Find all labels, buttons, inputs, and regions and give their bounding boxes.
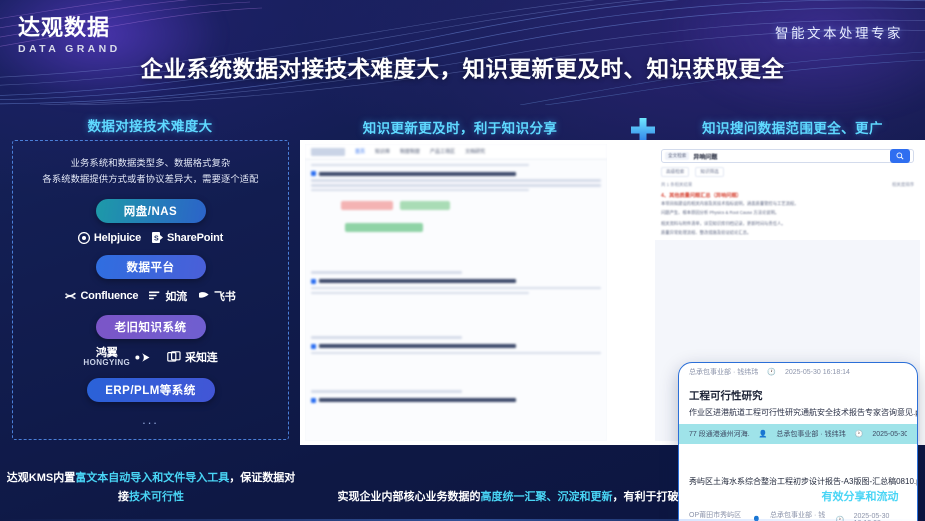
doc-line (311, 179, 601, 181)
strip-row: 77 段通港通州河海. 👤 总承包事业部 · 钱纬玮 🕐 2025-05-30 … (689, 429, 907, 439)
overlay-heading: 工程可行性研究 (679, 381, 917, 405)
doc-line (311, 184, 601, 186)
strip-author: 总承包事业部 · 钱纬玮 (776, 429, 845, 439)
strip-time: 2025-05-30 16:18:11 (872, 431, 907, 438)
caption-right-seg-2: ，有利于打破信息孤岛，实现高价值知识的 (613, 491, 822, 503)
doc-bullet-icon (311, 171, 316, 176)
search-filters[interactable]: 高级检索 知识筛选 (661, 167, 914, 177)
filter-chip-1[interactable]: 知识筛选 (695, 167, 723, 177)
desc-line-1: 业务系统和数据类型多、数据格式复杂 (13, 155, 288, 171)
overlay-author: 总承包事业部 · 钱纬玮 (689, 367, 758, 377)
brand-row-hongying-caizhilian: 鸿翼 HONGYING 采知连 (13, 348, 288, 367)
caption-left-seg-1: 富文本自动导入和文件导入工具 (75, 472, 229, 484)
pill-netdisk-nas[interactable]: 网盘/NAS (96, 199, 206, 223)
clock-icon: 🕐 (855, 430, 864, 438)
person-icon: 👤 (759, 430, 768, 438)
sort-dropdown[interactable]: 相关度排序 (892, 182, 914, 188)
document-list-body (305, 160, 607, 441)
overlay-meta-row: 总承包事业部 · 钱纬玮 🕐 2025-05-30 16:18:14 (679, 363, 917, 381)
pill-erp-plm-systems[interactable]: ERP/PLM等系统 (87, 378, 215, 402)
nav-item-3[interactable]: 产品工场区 (430, 148, 455, 155)
ruliu-icon (149, 290, 161, 301)
filter-chip-0[interactable]: 高级检索 (661, 167, 689, 177)
doc-entry-header (311, 398, 601, 403)
panel-description: 业务系统和数据类型多、数据格式复杂 各系统数据提供方式或者协议差异大，需要逐个适… (13, 155, 288, 188)
brand-caizhilian: 采知连 (167, 349, 217, 365)
clock-icon: 🕐 (767, 368, 776, 376)
doc-line (311, 287, 601, 289)
app-logo-icon (311, 148, 345, 156)
search-scope-select[interactable]: 全文检索 (665, 152, 689, 160)
brand-ruliu: 如流 (149, 288, 187, 304)
overlay-doc-title[interactable]: 作业区进港航道工程可行性研究通航安全技术报告专家咨询意见.pdf 南通港通州 (679, 405, 917, 422)
doc-line (311, 271, 462, 273)
nav-item-4[interactable]: 文档研究 (465, 148, 485, 155)
brand-confluence: Confluence (65, 290, 138, 302)
nav-item-0[interactable]: 首页 (355, 148, 365, 155)
brand-hongying: 鸿翼 HONGYING (83, 348, 156, 367)
section-header-left: 数据对接技术难度大 (0, 115, 300, 135)
knowledge-base-screenshot[interactable]: 首页 知识库 制度制度 产品工场区 文档研究 (305, 144, 607, 441)
result-snippet: 质量异常处理流程、整改措施及验证结论汇总。 (661, 230, 914, 237)
helpjuice-icon (78, 232, 90, 244)
caption-right-seg-1: 高度统一汇聚、沉淀和更新 (481, 491, 613, 503)
pill-legacy-knowledge-system[interactable]: 老旧知识系统 (96, 315, 206, 339)
caption-left-seg-3: 技术可行性 (129, 491, 184, 503)
tag-red (341, 201, 393, 210)
search-button[interactable] (890, 149, 910, 163)
doc-entry-header (311, 279, 601, 284)
app-navbar[interactable]: 首页 知识库 制度制度 产品工场区 文档研究 (305, 144, 607, 160)
caizhilian-icon (167, 351, 181, 363)
section-header-middle: 知识更新更及时，利于知识分享 (305, 117, 615, 137)
result-title[interactable]: 4、其他质量问题汇总（异响问题） (661, 192, 914, 199)
overlay-highlight-strip: 77 段通港通州河海. 👤 总承包事业部 · 钱纬玮 🕐 2025-05-30 … (679, 424, 917, 444)
result-snippet: 相关资料与附件清单，详见知识库归档记录，更新时间与责任人。 (661, 221, 914, 228)
caption-left-seg-0: 达观KMS内置 (7, 472, 75, 484)
screenshot-board: 首页 知识库 制度制度 产品工场区 文档研究 (300, 140, 925, 445)
brand-sharepoint: S SharePoint (152, 232, 223, 244)
doc-line (311, 292, 529, 294)
search-result-item[interactable]: 相关资料与附件清单，详见知识库归档记录，更新时间与责任人。 质量异常处理流程、整… (661, 221, 914, 237)
doc-entry-header (311, 344, 601, 349)
search-header: 全文检索 异响问题 高级检索 知识筛选 共 1 条相关结果 相关度排序 4、其他… (655, 144, 920, 240)
more-indicator: ... (13, 412, 288, 427)
section-header-right: 知识搜问数据范围更全、更广 (660, 117, 925, 137)
page-title: 企业系统数据对接技术难度大，知识更新更及时、知识获取更全 (0, 52, 925, 84)
nav-item-1[interactable]: 知识库 (375, 148, 390, 155)
tag-green-wide (345, 223, 423, 232)
confluence-icon (65, 290, 76, 301)
logo-chinese: 达观数据 (18, 16, 121, 40)
caption-right: 实现企业内部核心业务数据的高度统一汇聚、沉淀和更新，有利于打破信息孤岛，实现高价… (318, 488, 918, 507)
doc-line (311, 164, 529, 166)
brand-helpjuice: Helpjuice (78, 232, 141, 244)
hongying-arrow-icon (134, 352, 156, 363)
feishu-icon (198, 290, 210, 301)
sharepoint-icon: S (152, 232, 163, 243)
result-snippet: 问题产生、根本原因分析 Physics & Root Cause 方法论说明。 (661, 210, 914, 217)
search-result-meta: 共 1 条相关结果 相关度排序 (661, 182, 914, 188)
search-input[interactable]: 异响问题 (693, 152, 717, 161)
brand-tagline: 智能文本处理专家 (775, 22, 903, 42)
pill-data-platform[interactable]: 数据平台 (96, 255, 206, 279)
nav-item-2[interactable]: 制度制度 (400, 148, 420, 155)
svg-text:S: S (154, 235, 159, 242)
desc-line-2: 各系统数据提供方式或者协议差异大，需要逐个适配 (13, 171, 288, 187)
brand-feishu: 飞书 (198, 288, 236, 304)
brand-logo: 达观数据 DATA GRAND (18, 16, 121, 55)
doc-line (311, 352, 601, 354)
search-icon (896, 152, 904, 160)
doc-line (311, 189, 529, 191)
data-sources-panel: 业务系统和数据类型多、数据格式复杂 各系统数据提供方式或者协议差异大，需要逐个适… (12, 140, 289, 440)
overlay-time: 2025-05-30 16:18:14 (785, 369, 850, 376)
doc-line (311, 336, 462, 338)
caption-left: 达观KMS内置富文本自动导入和文件导入工具，保证数据对接技术可行性 (6, 469, 296, 508)
search-result-item[interactable]: 4、其他质量问题汇总（异响问题） 本项目拟建设的相关内容及其技术指标说明，涵盖质… (661, 192, 914, 217)
slide-root: 达观数据 DATA GRAND 智能文本处理专家 企业系统数据对接技术难度大，知… (0, 0, 925, 521)
search-bar[interactable]: 全文检索 异响问题 (661, 149, 914, 163)
doc-tag-row (311, 197, 601, 215)
brand-row-confluence-ruliu-feishu: Confluence 如流 飞书 (13, 288, 288, 304)
strip-text: 77 段通港通州河海. (689, 429, 750, 439)
doc-line (311, 390, 462, 392)
tag-green (400, 201, 450, 210)
result-snippet: 本项目拟建设的相关内容及其技术指标说明，涵盖质量管控与工艺流程。 (661, 201, 914, 208)
brand-row-helpjuice-sharepoint: Helpjuice S SharePoint (13, 232, 288, 244)
doc-entry-header (311, 171, 601, 176)
doc-tag-row-2 (311, 219, 601, 237)
caption-right-seg-0: 实现企业内部核心业务数据的 (338, 491, 481, 503)
caption-right-seg-3: 有效分享和流动 (822, 491, 899, 503)
result-count: 共 1 条相关结果 (661, 182, 692, 188)
